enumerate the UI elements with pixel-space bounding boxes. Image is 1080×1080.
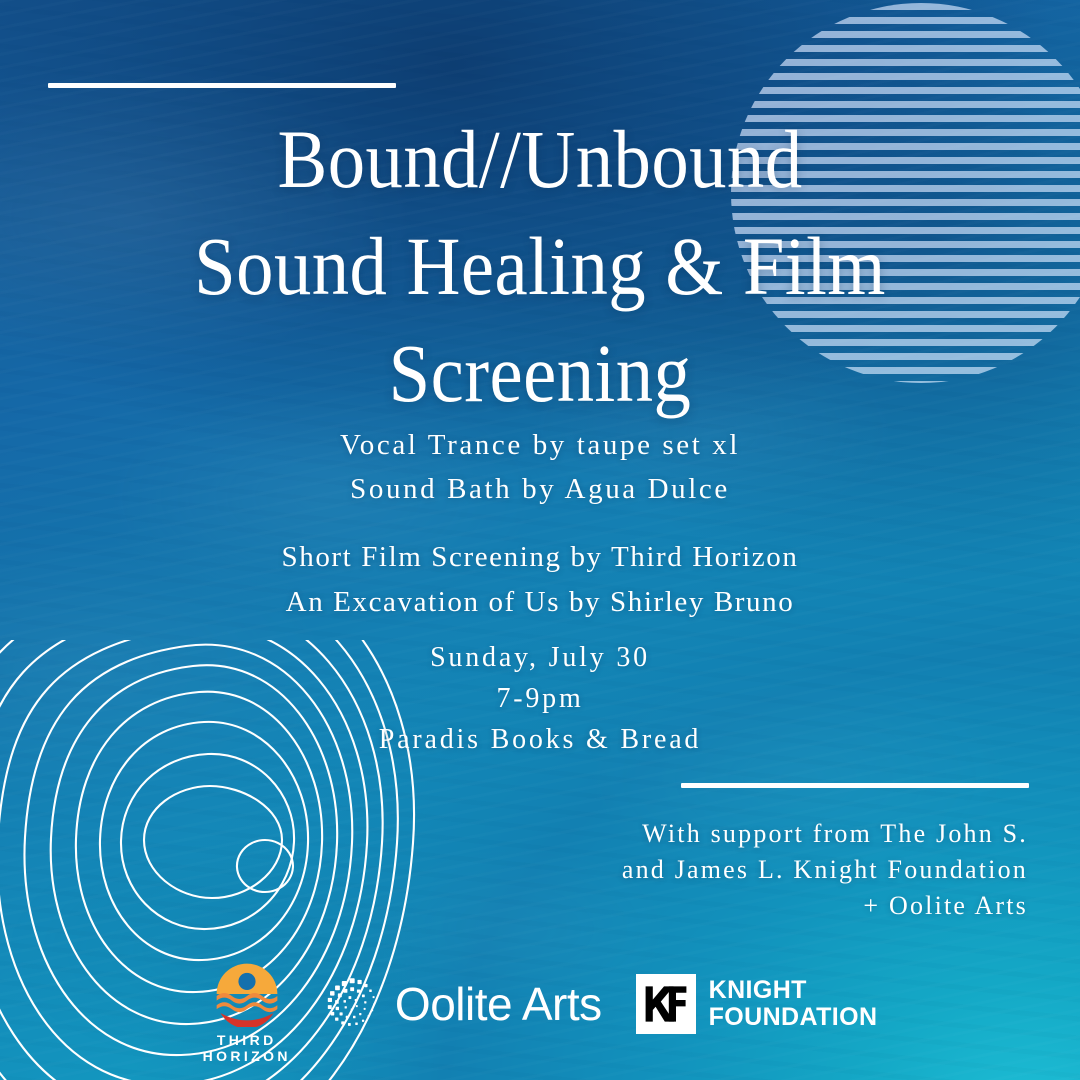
- event-poster: Bound//Unbound Sound Healing & Film Scre…: [0, 0, 1080, 1080]
- event-time: 7-9pm: [0, 678, 1080, 719]
- third-horizon-name-line-2: HORIZON: [203, 1048, 291, 1064]
- performer-line-1: Vocal Trance by taupe set xl: [0, 423, 1080, 467]
- support-line-3: + Oolite Arts: [548, 888, 1028, 924]
- knight-name-line-2: FOUNDATION: [709, 1004, 878, 1031]
- rule-top: [48, 83, 396, 88]
- knight-name-line-1: KNIGHT: [709, 977, 878, 1004]
- knight-foundation-wordmark: KNIGHT FOUNDATION: [709, 977, 878, 1031]
- event-venue: Paradis Books & Bread: [0, 719, 1080, 760]
- support-line-2: and James L. Knight Foundation: [548, 852, 1028, 888]
- performer-line-2: Sound Bath by Agua Dulce: [0, 467, 1080, 511]
- film-line-2: An Excavation of Us by Shirley Bruno: [0, 580, 1080, 625]
- knight-foundation-kf-icon: [644, 984, 688, 1024]
- third-horizon-wordmark: THIRD HORIZON: [203, 1032, 291, 1064]
- event-details-block: Sunday, July 30 7-9pm Paradis Books & Br…: [0, 637, 1080, 760]
- title-line-3: Screening: [54, 320, 1026, 427]
- oolite-arts-logo: Oolite Arts: [325, 976, 602, 1032]
- third-horizon-sun-wave-icon: [214, 961, 280, 1027]
- performers-block: Vocal Trance by taupe set xl Sound Bath …: [0, 423, 1080, 511]
- oolite-dotted-spiral-icon: [325, 976, 381, 1032]
- title-line-1: Bound//Unbound: [54, 106, 1026, 213]
- rule-middle: [681, 783, 1029, 788]
- film-line-1: Short Film Screening by Third Horizon: [0, 535, 1080, 580]
- oolite-arts-wordmark: Oolite Arts: [395, 979, 602, 1029]
- third-horizon-logo: THIRD HORIZON: [203, 961, 291, 1064]
- event-date: Sunday, July 30: [0, 637, 1080, 678]
- support-credit-block: With support from The John S. and James …: [548, 816, 1028, 924]
- page-title: Bound//Unbound Sound Healing & Film Scre…: [54, 106, 1026, 427]
- title-line-2: Sound Healing & Film: [54, 213, 1026, 320]
- knight-foundation-logo: KNIGHT FOUNDATION: [636, 974, 878, 1034]
- film-block: Short Film Screening by Third Horizon An…: [0, 535, 1080, 625]
- third-horizon-name-line-1: THIRD: [203, 1032, 291, 1048]
- sponsor-logo-row: THIRD HORIZON: [0, 956, 1080, 1068]
- knight-foundation-monogram-tile: [636, 974, 696, 1034]
- support-line-1: With support from The John S.: [548, 816, 1028, 852]
